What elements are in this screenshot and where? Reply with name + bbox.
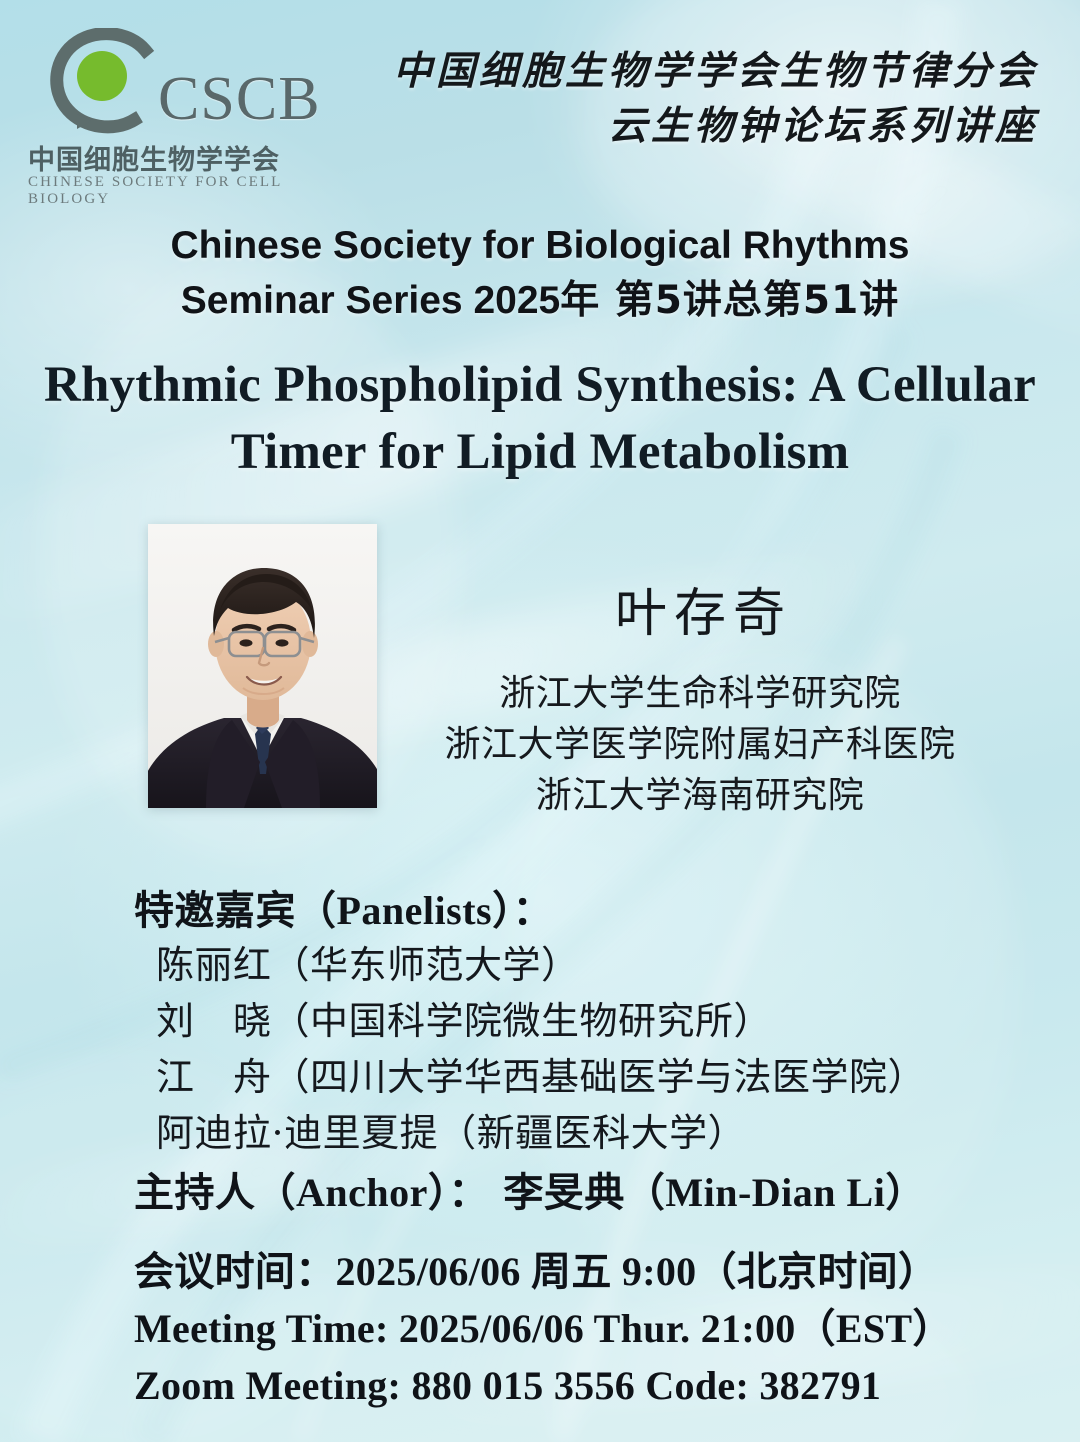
affiliation-2: 浙江大学医学院附属妇产科医院 <box>390 719 1010 770</box>
panelists-heading-cn: 特邀嘉宾（ <box>134 887 337 934</box>
meeting-time-cn: 会议时间：2025/06/06 周五 9:00（北京时间） <box>134 1244 1054 1301</box>
panelist-item: 刘 晓（中国科学院微生物研究所） <box>156 994 1036 1050</box>
series-line-2-cn: 年 第5讲总第51讲 <box>560 278 899 323</box>
cscb-name-cn: 中国细胞生物学学会 <box>28 138 280 177</box>
series-title: Chinese Society for Biological Rhythms S… <box>0 218 1080 329</box>
anchor-label-en: Anchor <box>296 1170 428 1215</box>
panelists-list: 陈丽红（华东师范大学） 刘 晓（中国科学院微生物研究所） 江 舟（四川大学华西基… <box>156 938 1036 1161</box>
panelist-item: 陈丽红（华东师范大学） <box>156 938 1036 994</box>
speaker-portrait <box>148 524 377 808</box>
cscb-logo-mark-icon <box>44 28 174 136</box>
affiliation-1: 浙江大学生命科学研究院 <box>390 668 1010 719</box>
panelists-heading: 特邀嘉宾（Panelists）： <box>134 878 553 936</box>
header-chinese: 中国细胞生物学学会生物节律分会 云生物钟论坛系列讲座 <box>308 44 1038 155</box>
cscb-name-en: CHINESE SOCIETY FOR CELL BIOLOGY <box>28 174 318 208</box>
cscb-acronym: CSCB <box>158 68 321 130</box>
anchor-line: 主持人（Anchor）： 李旻典（Min-Dian Li） <box>134 1160 926 1218</box>
panelist-item: 阿迪拉·迪里夏提（新疆医科大学） <box>156 1106 1036 1162</box>
panelists-heading-en: Panelists <box>337 888 493 933</box>
meeting-time-en: Meeting Time: 2025/06/06 Thur. 21:00（EST… <box>134 1301 1054 1358</box>
header-line-2: 云生物钟论坛系列讲座 <box>308 99 1038 154</box>
anchor-name-en: Min-Dian Li <box>665 1170 885 1215</box>
series-line-2: Seminar Series 2025年 第5讲总第51讲 <box>0 273 1080 328</box>
talk-title-line-1: Rhythmic Phospholipid Synthesis: A Cellu… <box>36 352 1044 419</box>
meeting-info: 会议时间：2025/06/06 周五 9:00（北京时间） Meeting Ti… <box>134 1244 1054 1414</box>
series-line-2-en: Seminar Series 2025 <box>181 279 560 322</box>
anchor-label-tail: ）： <box>428 1169 489 1216</box>
cscb-logo: CSCB 中国细胞生物学学会 CHINESE SOCIETY FOR CELL … <box>18 28 318 178</box>
zoom-meeting-info: Zoom Meeting: 880 015 3556 Code: 382791 <box>134 1358 1054 1415</box>
affiliation-3: 浙江大学海南研究院 <box>390 770 1010 821</box>
anchor-name-cn: 李旻典（ <box>503 1169 665 1216</box>
meeting-time-cn-value: 2025/06/06 周五 9:00（北京时间） <box>336 1249 939 1294</box>
anchor-name-tail: ） <box>885 1169 926 1216</box>
talk-title-line-2: Timer for Lipid Metabolism <box>36 419 1044 486</box>
anchor-label-cn: 主持人（ <box>134 1169 296 1216</box>
series-line-1: Chinese Society for Biological Rhythms <box>0 218 1080 273</box>
header-line-1: 中国细胞生物学学会生物节律分会 <box>308 44 1038 99</box>
panelists-heading-tail: ）： <box>492 887 553 934</box>
panelist-item: 江 舟（四川大学华西基础医学与法医学院） <box>156 1050 1036 1106</box>
talk-title: Rhythmic Phospholipid Synthesis: A Cellu… <box>36 352 1044 487</box>
seminar-poster: CSCB 中国细胞生物学学会 CHINESE SOCIETY FOR CELL … <box>0 0 1080 1442</box>
speaker-affiliations: 浙江大学生命科学研究院 浙江大学医学院附属妇产科医院 浙江大学海南研究院 <box>390 668 1010 821</box>
meeting-time-cn-label: 会议时间： <box>134 1248 336 1295</box>
speaker-name: 叶存奇 <box>400 588 1000 640</box>
